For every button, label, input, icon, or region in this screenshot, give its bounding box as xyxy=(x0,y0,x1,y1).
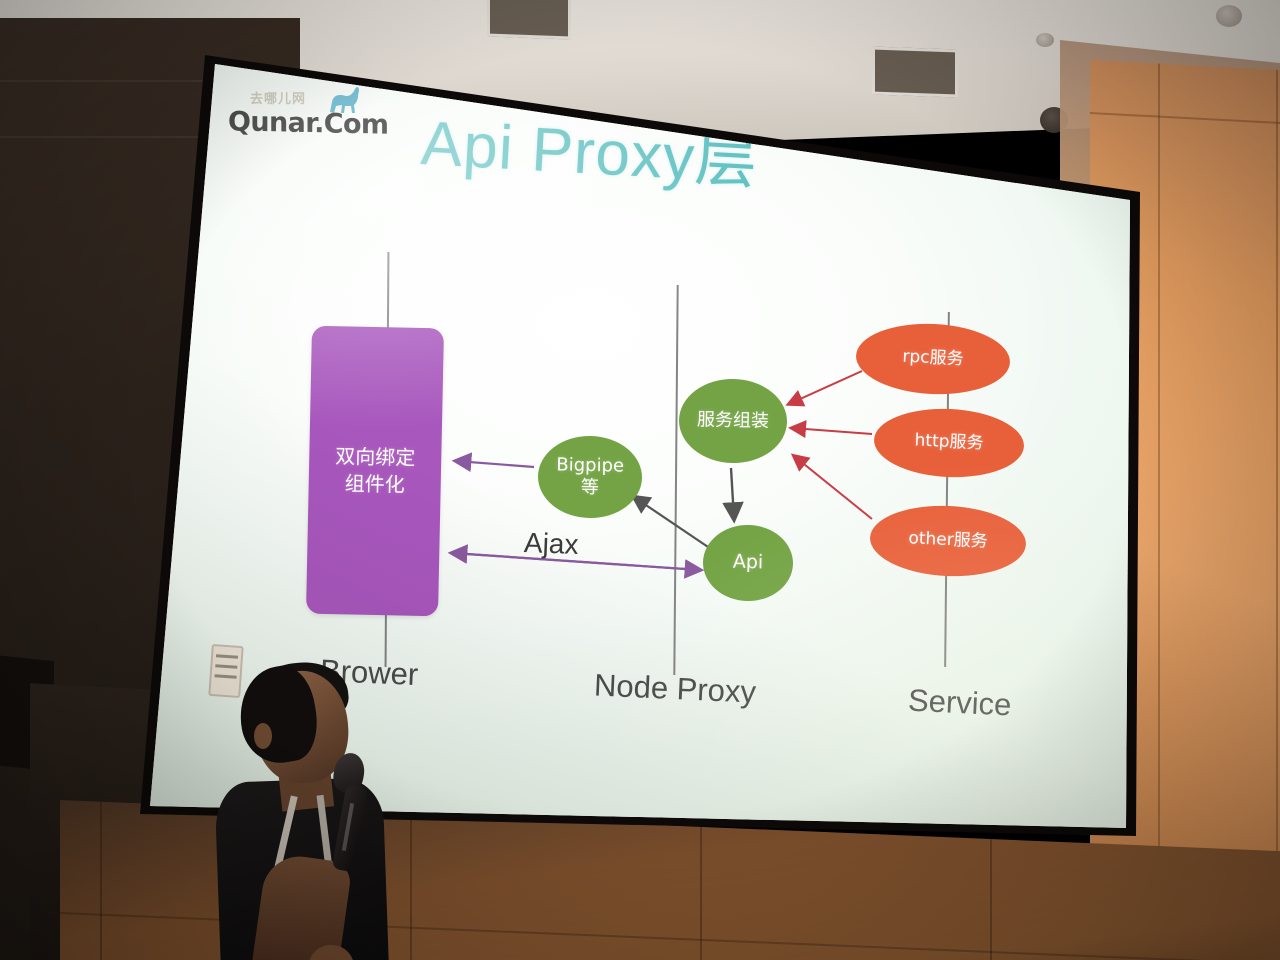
edge-label-ajax: Ajax xyxy=(523,527,579,561)
node-service-assemble-label: 服务组装 xyxy=(697,409,769,433)
node-api: Api xyxy=(702,524,794,602)
node-bigpipe-line2: 等 xyxy=(581,477,599,498)
node-service-assemble: 服务组装 xyxy=(678,378,788,464)
logo-chinese-tagline: 去哪儿网 xyxy=(250,88,306,107)
logo-brand-text: Qunar.Com xyxy=(228,106,388,140)
column-label-service: Service xyxy=(907,682,1012,723)
node-http-service: http服务 xyxy=(873,406,1026,481)
node-bigpipe: Bigpipe 等 xyxy=(537,435,642,519)
node-http-service-label: http服务 xyxy=(914,431,984,455)
presenter xyxy=(210,645,440,960)
node-rpc-service: rpc服务 xyxy=(854,321,1011,398)
node-rpc-service-label: rpc服务 xyxy=(902,347,964,371)
node-other-service-label: other服务 xyxy=(908,529,988,554)
column-label-node-proxy: Node Proxy xyxy=(593,667,756,710)
node-api-label: Api xyxy=(733,551,764,575)
column-divider-node-proxy xyxy=(673,285,678,675)
qunar-logo: 去哪儿网 Qunar.Com xyxy=(228,88,393,150)
node-bigpipe-line1: Bigpipe xyxy=(556,454,624,476)
presenter-ear xyxy=(254,723,272,749)
conference-room-photo: 去哪儿网 Qunar.Com Api Proxy层 双向绑定 组件化 xyxy=(0,0,1280,960)
node-browser-box-line1: 双向绑定 xyxy=(335,444,415,470)
node-browser-box: 双向绑定 组件化 xyxy=(306,326,444,617)
node-other-service: other服务 xyxy=(868,502,1027,579)
presenter-badge xyxy=(208,644,244,698)
node-browser-box-line2: 组件化 xyxy=(344,471,404,496)
